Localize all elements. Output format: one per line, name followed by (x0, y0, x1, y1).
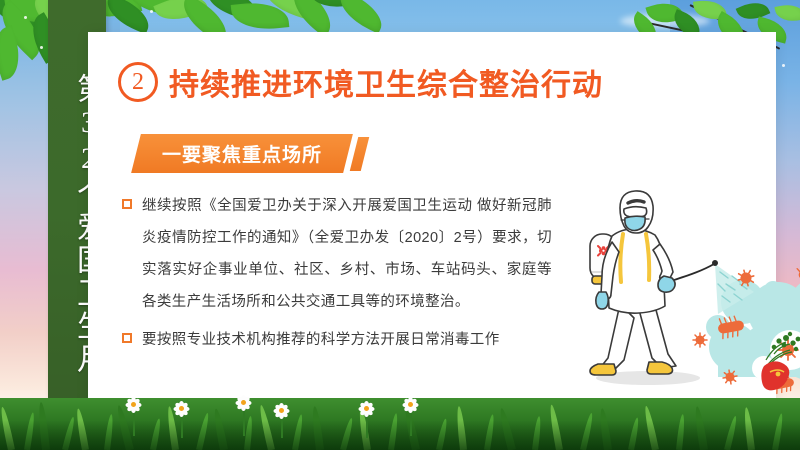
daisy-flower (274, 403, 289, 418)
poster-stage: 第32个爱国卫生月 2 持续推进环境卫生综合整治行动 一要聚焦重点场所 继续按照… (0, 0, 800, 450)
daisy-flower (236, 395, 251, 410)
bullet-list: 继续按照《全国爱卫办关于深入开展爱国卫生运动 做好新冠肺炎疫情防控工作的通知》（… (122, 190, 552, 362)
left-leg (600, 304, 634, 370)
ribbon-body: 一要聚焦重点场所 (131, 134, 353, 173)
content-card: 2 持续推进环境卫生综合整治行动 一要聚焦重点场所 继续按照《全国爱卫办关于深入… (88, 32, 776, 424)
nozzle-tip (712, 260, 718, 266)
daisy-flower (174, 401, 189, 416)
ribbon-slash-decor (350, 137, 369, 171)
daisy-flower (359, 401, 374, 416)
list-item: 继续按照《全国爱卫办关于深入开展爱国卫生运动 做好新冠肺炎疫情防控工作的通知》（… (122, 190, 552, 318)
hazmat-worker-icon (590, 191, 718, 375)
square-bullet-icon (122, 199, 132, 209)
list-item: 要按照专业技术机构推荐的科学方法开展日常消毒工作 (122, 324, 552, 356)
page-heading: 2 持续推进环境卫生综合整治行动 (118, 60, 603, 104)
list-item-text: 要按照专业技术机构推荐的科学方法开展日常消毒工作 (142, 324, 500, 356)
left-shoe (590, 364, 616, 375)
square-bullet-icon (122, 333, 132, 343)
right-glove (658, 276, 675, 292)
grass-shadow-gradient (0, 420, 800, 450)
page-title: 持续推进环境卫生综合整治行动 (169, 60, 603, 104)
list-item-text: 继续按照《全国爱卫办关于深入开展爱国卫生运动 做好新冠肺炎疫情防控工作的通知》（… (142, 190, 552, 318)
face-mask (625, 216, 645, 230)
right-shoe (647, 362, 673, 374)
section-ribbon: 一要聚焦重点场所 (136, 134, 365, 173)
ribbon-label: 一要聚焦重点场所 (162, 140, 322, 167)
section-number-badge: 2 (118, 62, 158, 102)
daisy-flower (403, 397, 418, 412)
coverall-torso (607, 229, 665, 313)
right-leg (638, 306, 676, 368)
daisy-flower (126, 397, 141, 412)
left-glove (596, 292, 608, 309)
